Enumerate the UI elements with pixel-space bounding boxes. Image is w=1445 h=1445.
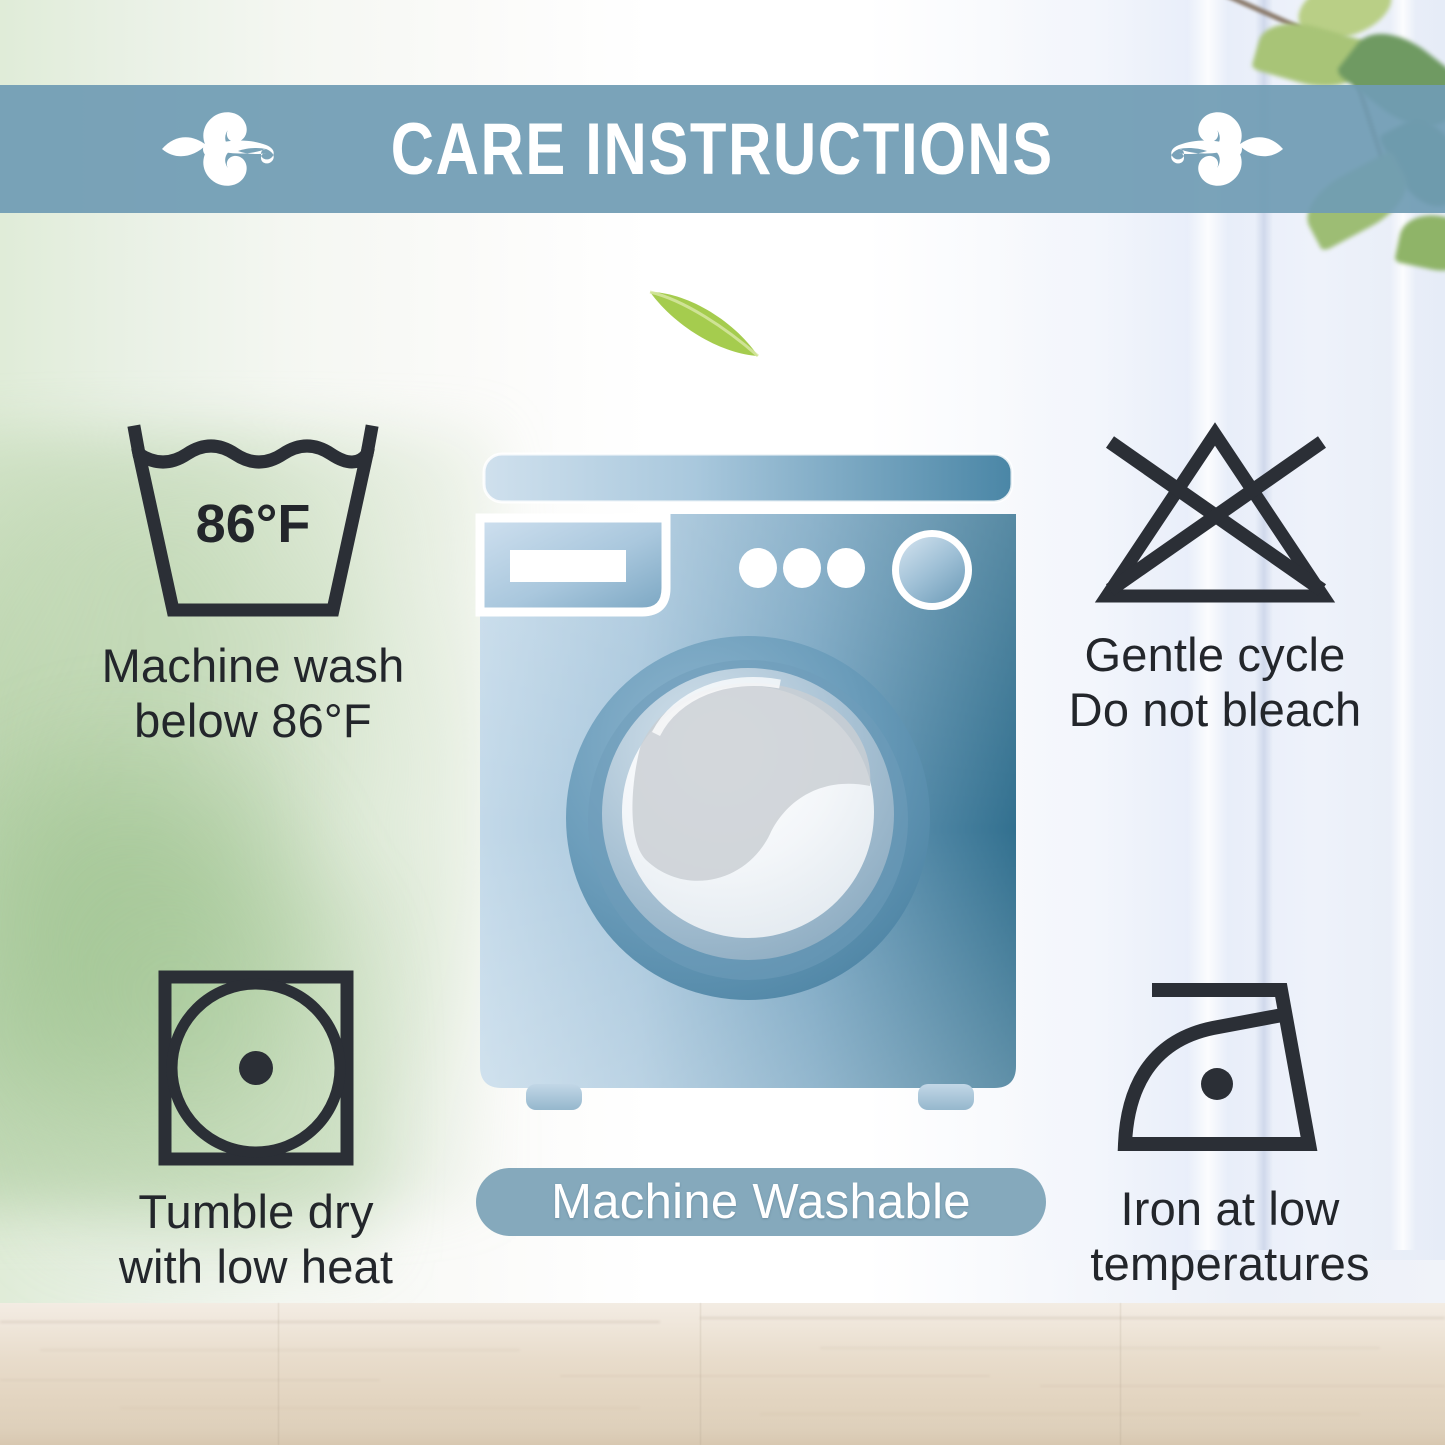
- care-instructions-infographic: CARE INSTRUCTIONS 86°F Machine washbelow…: [0, 0, 1445, 1445]
- falling-leaf-icon: [640, 270, 770, 370]
- care-symbol-machine-wash: 86°F Machine washbelow 86°F: [28, 420, 478, 749]
- care-caption-tumble-dry: Tumble drywith low heat: [46, 1185, 466, 1295]
- care-caption-do-not-bleach: Gentle cycleDo not bleach: [1000, 628, 1430, 738]
- fleur-de-lis-ornament-left: [154, 101, 284, 197]
- detergent-drawer[interactable]: [480, 518, 666, 612]
- care-symbol-tumble-dry: Tumble drywith low heat: [46, 965, 466, 1295]
- machine-top-strip: [484, 454, 1012, 502]
- fleur-de-lis-ornament-right: [1161, 101, 1291, 197]
- indicator-dots[interactable]: [739, 548, 865, 588]
- dial-knob[interactable]: [892, 530, 972, 610]
- machine-foot: [918, 1084, 974, 1110]
- care-symbol-iron-low: Iron at lowtemperatures: [1020, 968, 1440, 1292]
- triangle-crossed-out-icon: [1090, 418, 1340, 614]
- page-title: CARE INSTRUCTIONS: [391, 113, 1054, 186]
- header-banner: CARE INSTRUCTIONS: [0, 85, 1445, 213]
- machine-washable-badge: Machine Washable: [476, 1168, 1046, 1236]
- indicator-dot[interactable]: [739, 548, 777, 588]
- indicator-dot[interactable]: [783, 548, 821, 588]
- wooden-table-surface: [0, 1303, 1445, 1445]
- machine-door[interactable]: [566, 636, 930, 1000]
- care-symbol-do-not-bleach: Gentle cycleDo not bleach: [1000, 418, 1430, 738]
- machine-foot: [526, 1084, 582, 1110]
- wash-temperature-label: 86°F: [196, 494, 311, 554]
- indicator-dot[interactable]: [827, 548, 865, 588]
- tumble-dry-low-icon: [153, 965, 359, 1171]
- leaf-icon: [1394, 209, 1445, 278]
- badge-label: Machine Washable: [551, 1178, 971, 1227]
- washing-machine-illustration: [470, 448, 1026, 1138]
- iron-one-dot-icon: [1105, 968, 1355, 1168]
- drawer-slot: [510, 550, 626, 582]
- care-caption-iron-low: Iron at lowtemperatures: [1020, 1182, 1440, 1292]
- care-caption-machine-wash: Machine washbelow 86°F: [28, 639, 478, 749]
- wash-tub-icon: 86°F: [119, 420, 387, 625]
